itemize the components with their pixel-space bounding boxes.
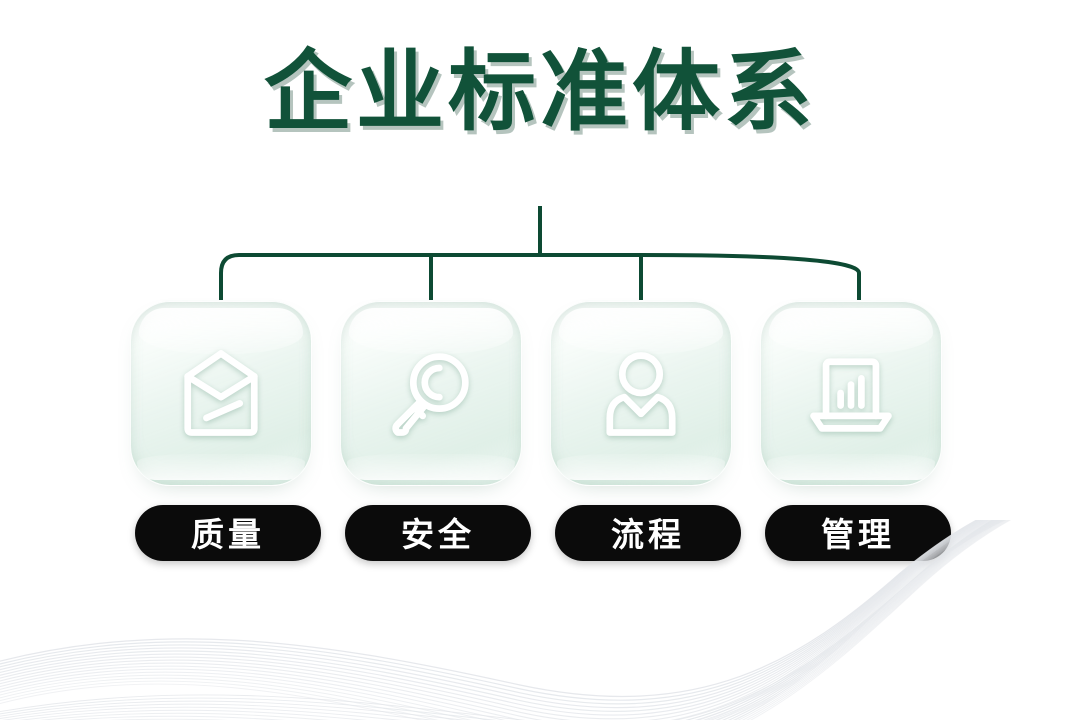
connector-tree [0,200,1080,320]
card-quality[interactable] [130,300,312,486]
pill-quality[interactable]: 质量 [135,505,321,561]
label-pill-row: 质量 安全 流程 管理 [0,505,1080,563]
pill-safety[interactable]: 安全 [345,505,531,561]
pill-process[interactable]: 流程 [555,505,741,561]
pill-quality-label: 质量 [191,508,265,556]
pill-safety-label: 安全 [401,508,475,556]
pill-management[interactable]: 管理 [765,505,951,561]
card-process[interactable] [550,300,732,486]
connector-bar-right [540,255,859,300]
laptop-bar-chart-icon [799,341,903,445]
open-envelope-icon [169,341,273,445]
slide-canvas: 企业标准体系 [0,0,1080,720]
card-management[interactable] [760,300,942,486]
card-row [0,300,1080,490]
pill-management-label: 管理 [821,508,895,556]
user-person-icon [589,341,693,445]
page-title: 企业标准体系 [0,47,1080,137]
magnifier-icon [379,341,483,445]
connector-bar-left [221,255,540,300]
header-band: 企业标准体系 [0,0,1080,211]
pill-process-label: 流程 [611,508,685,556]
card-safety[interactable] [340,300,522,486]
